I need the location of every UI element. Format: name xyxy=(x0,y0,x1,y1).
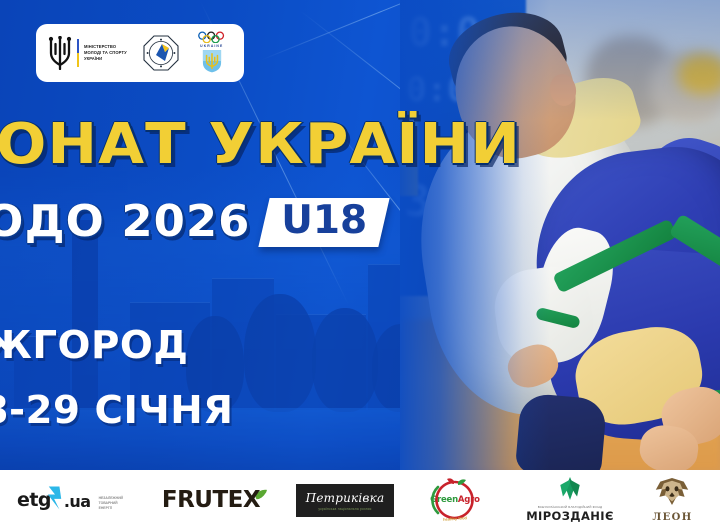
venue-city: УЖГОРОД xyxy=(0,325,234,366)
petrykivka-logo-box: Петриківка українська національна розпис xyxy=(296,484,395,517)
lightning-bolt-icon xyxy=(47,486,63,510)
organiser-logo-bar: МІНІСТЕРСТВО МОЛОДІ ТА СПОРТУ УКРАЇНИ xyxy=(36,24,244,82)
olympic-rings-icon xyxy=(197,31,227,43)
sponsor-bar: etg .ua НЕЗАЛЕЖНИЙ ТОВАРНИЙ ЕНЕРГІЇ FRUT… xyxy=(0,470,720,530)
etg-logo: etg .ua НЕЗАЛЕЖНИЙ ТОВАРНИЙ ЕНЕРГІЇ xyxy=(17,489,123,511)
mirozdanie-wordmark: МІРОЗДАНІЄ xyxy=(526,509,614,523)
photo-top-blend xyxy=(400,0,720,120)
green-agro-logo: GreenAgro healthy food xyxy=(418,478,492,522)
ministry-line-3: УКРАЇНИ xyxy=(84,56,127,62)
sponsor-logo-green-agro[interactable]: GreenAgro healthy food xyxy=(400,477,510,523)
frutex-wordmark: FRUTEX xyxy=(162,487,260,513)
sponsor-logo-mirozdanie[interactable]: ВСЕУКРАЇНСЬКИЙ БЛАГОДІЙНИЙ ФОНД МІРОЗДАН… xyxy=(510,477,630,523)
etg-wordmark: etg xyxy=(17,489,51,511)
sponsor-logo-leon[interactable]: ЛЕОН xyxy=(630,477,715,523)
subtitle-row: ЗЮДО 2026 U18 xyxy=(0,198,384,247)
leon-wordmark: ЛЕОН xyxy=(652,512,692,523)
judo-federation-emblem-icon xyxy=(143,35,179,71)
event-subtitle: ЗЮДО 2026 xyxy=(0,200,250,244)
judoka-photograph: 0:0 0:0 3:0 xyxy=(400,0,720,470)
ukraine-shield-icon xyxy=(202,49,222,73)
event-title: ПІОНАТ УКРАЇНИ xyxy=(0,118,516,172)
etg-tagline-line-1: НЕЗАЛЕЖНИЙ xyxy=(99,496,123,500)
petrykivka-tagline: українська національна розпис xyxy=(306,507,385,511)
ministry-logo: МІНІСТЕРСТВО МОЛОДІ ТА СПОРТУ УКРАЇНИ xyxy=(48,36,127,70)
age-category-label: U18 xyxy=(282,201,368,242)
sponsor-logo-etg-ua[interactable]: etg .ua НЕЗАЛЕЖНИЙ ТОВАРНИЙ ЕНЕРГІЇ xyxy=(0,477,140,523)
leon-logo: ЛЕОН xyxy=(652,477,692,523)
etg-tagline-line-2: ТОВАРНИЙ xyxy=(99,501,118,505)
petrykivka-wordmark: Петриківка xyxy=(306,491,385,505)
green-diamond-icon xyxy=(555,477,585,500)
headline-block: ПІОНАТ УКРАЇНИ xyxy=(0,118,482,172)
ukrainian-trident-icon xyxy=(48,36,72,70)
etg-tagline: НЕЗАЛЕЖНИЙ ТОВАРНИЙ ЕНЕРГІЇ xyxy=(99,496,123,511)
etg-tagline-line-3: ЕНЕРГІЇ xyxy=(99,506,112,510)
judo-championship-poster: 0:0 0:0 3:0 xyxy=(0,0,720,530)
sponsor-logo-frutex[interactable]: FRUTEX xyxy=(140,477,290,523)
ministry-name: МІНІСТЕРСТВО МОЛОДІ ТА СПОРТУ УКРАЇНИ xyxy=(84,44,127,62)
venue-block: УЖГОРОД 28-29 СІЧНЯ xyxy=(0,325,228,431)
lion-head-icon xyxy=(654,477,690,506)
ministry-divider xyxy=(77,39,79,67)
olympic-committee-logo: UKRAINE xyxy=(195,31,229,75)
event-dates: 28-29 СІЧНЯ xyxy=(0,390,234,431)
sponsor-logo-petrykivka[interactable]: Петриківка українська національна розпис xyxy=(290,477,400,523)
etg-domain: .ua xyxy=(64,492,91,511)
poster-artwork: 0:0 0:0 3:0 xyxy=(0,0,720,470)
sponsor-logo-partial[interactable] xyxy=(715,477,720,523)
olympic-caption: UKRAINE xyxy=(200,44,223,48)
age-category-badge: U18 xyxy=(259,198,390,247)
mirozdanie-logo: ВСЕУКРАЇНСЬКИЙ БЛАГОДІЙНИЙ ФОНД МІРОЗДАН… xyxy=(526,477,614,523)
